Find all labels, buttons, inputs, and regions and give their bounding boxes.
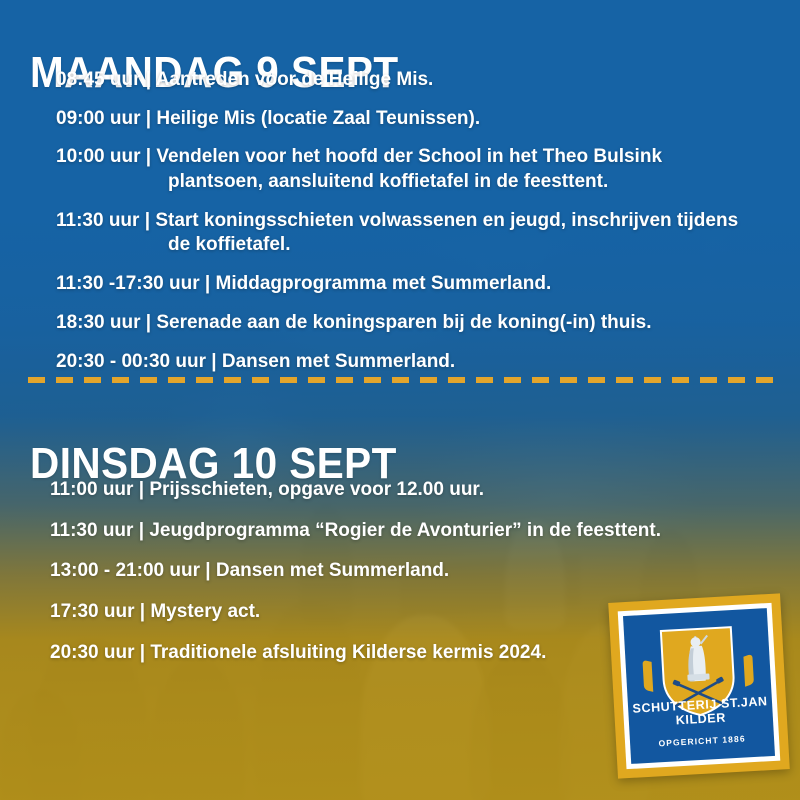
schedule-entry-time: 13:00 - 21:00 uur | [50,560,216,581]
schedule-entry: 08:45 uur | Aantreden voor de Heilige Mi… [56,68,756,93]
schedule-entry: 11:00 uur | Prijsschieten, opgave voor 1… [50,478,750,503]
schedule-entry-text: Heilige Mis (locatie Zaal Teunissen). [156,108,480,129]
schedule-entry: 18:30 uur | Serenade aan de koningsparen… [56,311,756,336]
schedule-entry: 10:00 uur | Vendelen voor het hoofd der … [56,145,756,194]
dashed-divider [28,377,780,383]
poster-content: MAANDAG 9 SEPT 08:45 uur | Aantreden voo… [0,0,800,800]
schedule-entry: 11:30 uur | Start koningsschieten volwas… [56,209,756,258]
schutterij-logo: SCHUTTERIJ ST.JAN KILDER OPGERICHT 1886 [608,593,790,778]
schedule-entry-text: Middagprogramma met Summerland. [216,273,552,294]
schedule-list-monday: 08:45 uur | Aantreden voor de Heilige Mi… [56,68,756,388]
logo-founded-text: OPGERICHT 1886 [630,732,774,750]
schedule-entry-time: 09:00 uur | [56,108,156,129]
schedule-entry-text: Dansen met Summerland. [216,560,449,581]
kermis-program-poster: MAANDAG 9 SEPT 08:45 uur | Aantreden voo… [0,0,800,800]
schedule-entry-text: Mystery act. [150,601,260,622]
schedule-entry-text: Prijsschieten, opgave voor 12.00 uur. [149,479,484,500]
ribbon-left-icon [642,660,653,692]
schedule-entry-time: 11:00 uur | [50,479,149,500]
schedule-entry: 09:00 uur | Heilige Mis (locatie Zaal Te… [56,107,756,132]
schedule-entry-time: 08:45 uur | [56,69,156,90]
schedule-entry: 11:30 uur | Jeugdprogramma “Rogier de Av… [50,519,750,544]
logo-name-text: SCHUTTERIJ ST.JAN KILDER [628,694,773,730]
schedule-entry-text: Dansen met Summerland. [222,351,455,372]
schedule-entry-text: Start koningsschieten volwassenen en jeu… [155,210,738,256]
schedule-entry-time: 11:30 uur | [50,520,149,541]
schedule-entry: 13:00 - 21:00 uur | Dansen met Summerlan… [50,559,750,584]
schedule-entry-text: Serenade aan de koningsparen bij de koni… [156,312,651,333]
schedule-entry-time: 11:30 uur | [56,210,155,231]
ribbon-right-icon [743,654,754,687]
schedule-entry-time: 20:30 - 00:30 uur | [56,351,222,372]
schedule-entry-time: 17:30 uur | [50,601,150,622]
schedule-entry-time: 20:30 uur | [50,642,150,663]
schedule-entry-time: 11:30 -17:30 uur | [56,273,216,294]
schedule-entry: 11:30 -17:30 uur | Middagprogramma met S… [56,272,756,297]
schedule-entry-text: Jeugdprogramma “Rogier de Avonturier” in… [149,520,661,541]
schedule-entry-text: Traditionele afsluiting Kilderse kermis … [150,642,546,663]
schedule-entry-time: 18:30 uur | [56,312,156,333]
schedule-entry-time: 10:00 uur | [56,146,156,167]
schedule-entry-text: Aantreden voor de Heilige Mis. [156,69,434,90]
logo-blue-field: SCHUTTERIJ ST.JAN KILDER OPGERICHT 1886 [623,608,775,764]
schedule-entry-text: Vendelen voor het hoofd der School in he… [156,146,662,192]
schedule-entry: 20:30 - 00:30 uur | Dansen met Summerlan… [56,350,756,375]
